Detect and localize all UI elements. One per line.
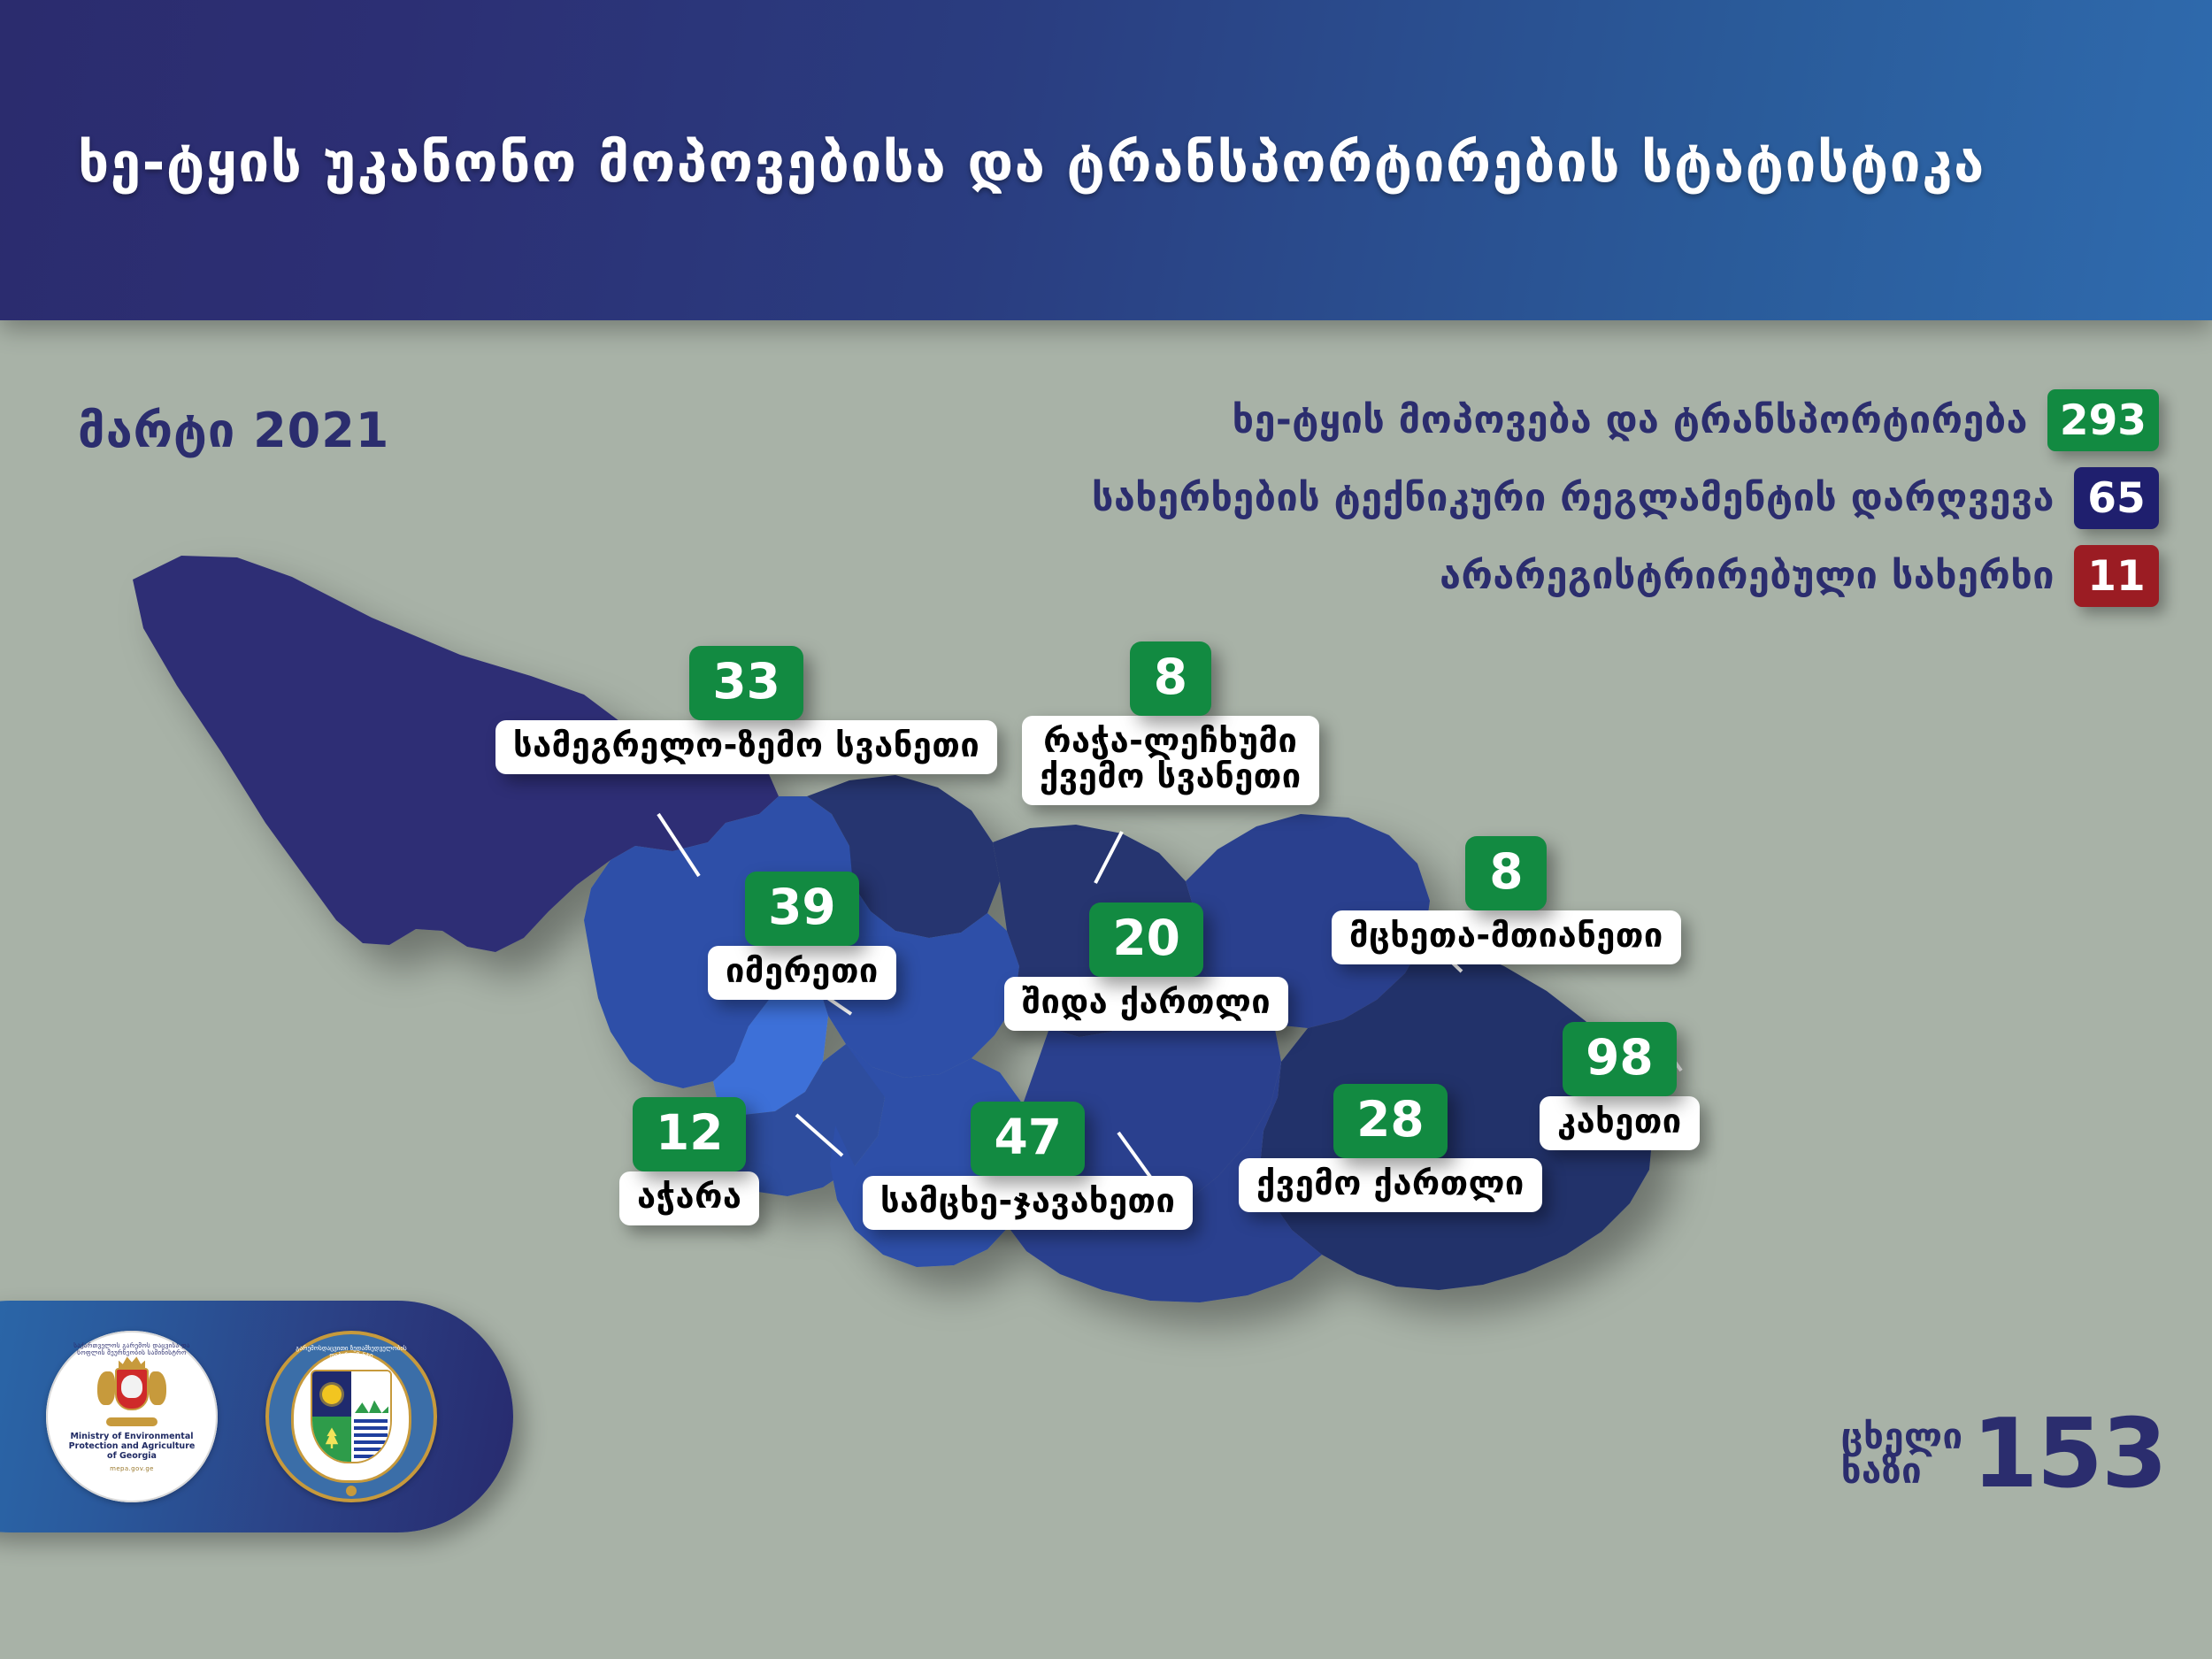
legend-badge-value: 293 [2047,389,2159,451]
region-value: 33 [689,646,803,720]
region-name: სამეგრელო-ზემო სვანეთი [495,720,997,774]
shield-quadrant-mountains [351,1371,390,1417]
hotline-label: ცხელი ხაზი [1841,1420,1963,1489]
region-value: 98 [1563,1022,1677,1096]
region-marker-shida-kartli[interactable]: 20 შიდა ქართლი [1004,902,1288,1031]
shield-quadrant-sun [312,1371,351,1417]
supervision-shield-icon [311,1370,392,1463]
region-value: 12 [633,1097,747,1171]
region-name: რაჭა-ლეჩხუმი ქვემო სვანეთი [1022,716,1319,805]
legend-item: ხე-ტყის მოპოვება და ტრანსპორტირება 293 [867,389,2159,451]
legend-item: სახერხების ტექნიკური რეგლამენტის დარღვევ… [867,467,2159,529]
region-marker-mtskheta-mtianeti[interactable]: 8 მცხეთა-მთიანეთი [1332,836,1681,964]
crown-icon [119,1356,145,1368]
region-marker-kakheti[interactable]: 98 კახეთი [1540,1022,1700,1150]
region-value: 47 [971,1102,1085,1176]
lion-right-icon [149,1371,166,1405]
region-name: სამცხე-ჯავახეთი [863,1176,1193,1230]
region-name: ქვემო ქართლი [1239,1158,1542,1212]
region-value: 20 [1089,902,1203,977]
region-value: 39 [745,872,859,946]
hotline-block: ცხელი ხაზი 153 [1841,1414,2166,1496]
region-name-line2: ქვემო სვანეთი [1040,759,1302,795]
region-marker-samegrelo-zemo-svaneti[interactable]: 33 სამეგრელო-ზემო სვანეთი [495,646,997,774]
motto-scroll-icon [106,1417,157,1426]
region-marker-adjara[interactable]: 12 აჭარა [619,1097,759,1225]
legend-badge-value: 65 [2074,467,2159,529]
region-value: 28 [1333,1084,1448,1158]
page-header: ხე-ტყის უკანონო მოპოვებისა და ტრანსპორტი… [0,0,2212,320]
region-name-line1: რაჭა-ლეჩხუმი [1040,724,1302,759]
st-george-rider-icon [121,1375,142,1398]
report-period-label: მარტი 2021 [78,403,389,458]
legend-badge-value: 11 [2074,545,2159,607]
hotline-label-line1: ცხელი [1841,1420,1963,1455]
supervision-department-logo: გარემოსდაცვითი ზედამხედველობის დეპარტამე… [265,1331,437,1502]
tree-icon [323,1427,341,1448]
page-title: ხე-ტყის უკანონო მოპოვებისა და ტრანსპორტი… [78,130,1985,195]
region-name: შიდა ქართლი [1004,977,1288,1031]
waves-icon [354,1419,388,1459]
seal-bottom-dot [346,1486,357,1496]
mountain-icon [355,1397,388,1413]
region-name: მცხეთა-მთიანეთი [1332,910,1681,964]
legend-label: ხე-ტყის მოპოვება და ტრანსპორტირება [1233,398,2028,442]
lion-left-icon [97,1371,115,1405]
region-marker-racha-lechkhumi[interactable]: 8 რაჭა-ლეჩხუმი ქვემო სვანეთი [1022,641,1319,805]
sun-icon [322,1385,342,1404]
region-marker-kvemo-kartli[interactable]: 28 ქვემო ქართლი [1239,1084,1542,1212]
hotline-label-line2: ხაზი [1841,1455,1963,1489]
region-name: აჭარა [619,1171,759,1225]
region-name: კახეთი [1540,1096,1700,1150]
footer-logo-panel: საქართველოს გარემოს დაცვისა და სოფლის მე… [0,1301,513,1532]
shield-quadrant-water [351,1417,390,1462]
region-marker-imereti[interactable]: 39 იმერეთი [708,872,896,1000]
ministry-seal: საქართველოს გარემოს დაცვისა და სოფლის მე… [46,1331,218,1502]
ministry-logo: საქართველოს გარემოს დაცვისა და სოფლის მე… [46,1331,218,1502]
shield-quadrant-tree [312,1417,351,1462]
region-marker-samtskhe-javakheti[interactable]: 47 სამცხე-ჯავახეთი [863,1102,1193,1230]
supervision-seal-inner [291,1350,411,1483]
supervision-seal: გარემოსდაცვითი ზედამხედველობის დეპარტამე… [265,1331,437,1502]
region-value: 8 [1465,836,1547,910]
region-name: იმერეთი [708,946,896,1000]
legend-label: სახერხების ტექნიკური რეგლამენტის დარღვევ… [1092,476,2055,520]
region-value: 8 [1130,641,1211,716]
georgia-coat-of-arms-icon [94,1356,170,1428]
hotline-number: 153 [1972,1414,2166,1496]
